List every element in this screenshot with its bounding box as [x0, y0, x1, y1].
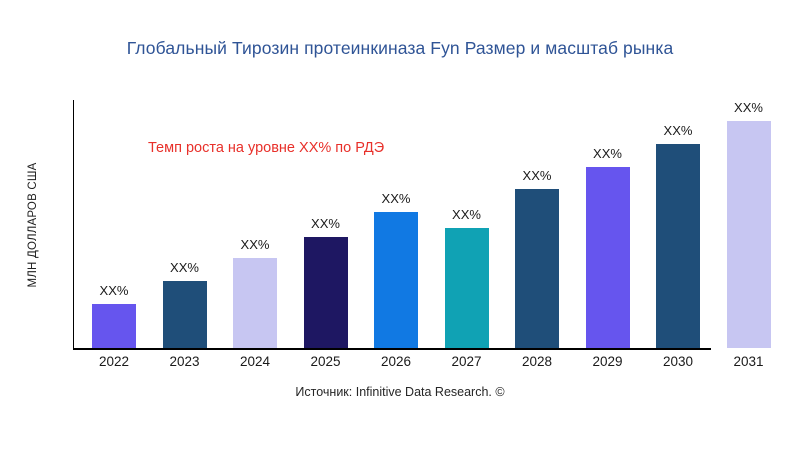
bar-value-label: XX%	[241, 237, 270, 252]
bar-value-label: XX%	[452, 207, 481, 222]
growth-rate-annotation: Темп роста на уровне XX% по РДЭ	[148, 140, 384, 156]
x-tick-label: 2027	[451, 354, 481, 369]
bar-value-label: XX%	[593, 146, 622, 161]
x-tick-label: 2022	[99, 354, 129, 369]
bar-value-label: XX%	[734, 100, 763, 115]
y-axis-label: МЛН ДОЛЛАРОВ США	[27, 163, 39, 288]
bar: XX%	[515, 189, 559, 348]
bar-value-label: XX%	[382, 191, 411, 206]
x-tick-label: 2026	[381, 354, 411, 369]
y-axis-label-container: МЛН ДОЛЛАРОВ США	[22, 100, 44, 350]
bar-value-label: XX%	[170, 260, 199, 275]
bar: XX%	[374, 212, 418, 348]
bar: XX%	[727, 121, 771, 348]
bar-value-label: XX%	[100, 283, 129, 298]
bar: XX%	[656, 144, 700, 348]
x-tick-label: 2030	[663, 354, 693, 369]
bar-value-label: XX%	[664, 123, 693, 138]
x-tick-label: 2023	[169, 354, 199, 369]
x-tick-label: 2028	[522, 354, 552, 369]
bar: XX%	[304, 237, 348, 348]
x-tick-label: 2024	[240, 354, 270, 369]
bar-value-label: XX%	[311, 216, 340, 231]
bar: XX%	[233, 258, 277, 348]
x-axis-tick-labels: 2022202320242025202620272028202920302031	[73, 354, 789, 378]
bar: XX%	[445, 228, 489, 348]
bar: XX%	[92, 304, 136, 348]
x-tick-label: 2031	[733, 354, 763, 369]
bar-value-label: XX%	[523, 168, 552, 183]
x-tick-label: 2029	[592, 354, 622, 369]
plot-area: XX%XX%XX%XX%XX%XX%XX%XX%XX%XX%	[73, 100, 789, 350]
bar-chart-figure: Глобальный Тирозин протеинкиназа Fyn Раз…	[0, 0, 800, 450]
bar: XX%	[586, 167, 630, 348]
page-title: Глобальный Тирозин протеинкиназа Fyn Раз…	[0, 38, 800, 59]
source-caption: Источник: Infinitive Data Research. ©	[0, 385, 800, 399]
bar: XX%	[163, 281, 207, 348]
x-axis-line	[73, 348, 711, 350]
y-axis-line	[73, 100, 74, 350]
x-tick-label: 2025	[310, 354, 340, 369]
